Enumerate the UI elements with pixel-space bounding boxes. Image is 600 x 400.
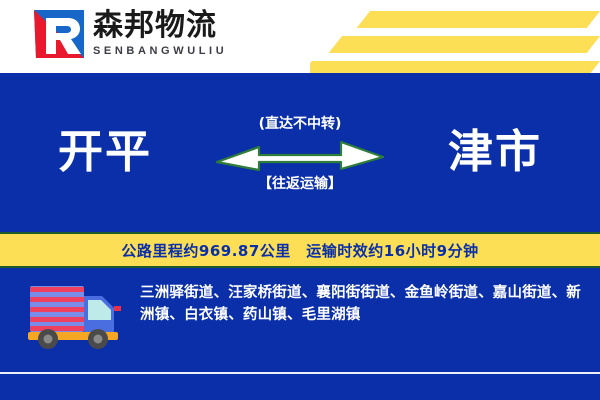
header-stripe-2 <box>329 36 600 53</box>
route-arrow-group: (直达不中转) 【往返运输】 <box>205 115 395 193</box>
brand-name-en: SENBANGWULIU <box>93 44 263 58</box>
header-stripe-3 <box>310 61 600 73</box>
distance-text: 公路里程约969.87公里 运输时效约16小时9分钟 <box>121 240 478 261</box>
route-note-top: (直达不中转) <box>205 115 395 133</box>
brand-name-cn: 森邦物流 <box>93 9 263 43</box>
footer-strip <box>0 374 600 400</box>
brand-text-block: 森邦物流 SENBANGWULIU <box>93 9 263 58</box>
header-stripe-decoration <box>310 0 600 73</box>
route-note-bottom: 【往返运输】 <box>205 175 395 193</box>
poster-header: 森邦物流 SENBANGWULIU <box>0 0 600 73</box>
distance-banner: 公路里程约969.87公里 运输时效约16小时9分钟 <box>0 232 600 268</box>
double-headed-arrow-icon <box>215 136 385 172</box>
header-stripe-1 <box>357 11 600 28</box>
coverage-section: 三洲驿街道、汪家桥街道、襄阳街街道、金鱼岭街道、嘉山街道、新洲镇、白衣镇、药山镇… <box>0 268 600 372</box>
coverage-areas-text: 三洲驿街道、汪家桥街道、襄阳街街道、金鱼岭街道、嘉山街道、新洲镇、白衣镇、药山镇… <box>140 282 582 326</box>
senbang-r-logo-icon <box>28 8 86 60</box>
logistics-route-poster: 森邦物流 SENBANGWULIU 开平 (直达不中转) 【往返运输】 津市 公… <box>0 0 600 400</box>
delivery-truck-icon <box>26 280 124 350</box>
route-section: 开平 (直达不中转) 【往返运输】 津市 <box>0 73 600 232</box>
origin-city: 开平 <box>58 123 152 181</box>
destination-city: 津市 <box>448 123 542 181</box>
